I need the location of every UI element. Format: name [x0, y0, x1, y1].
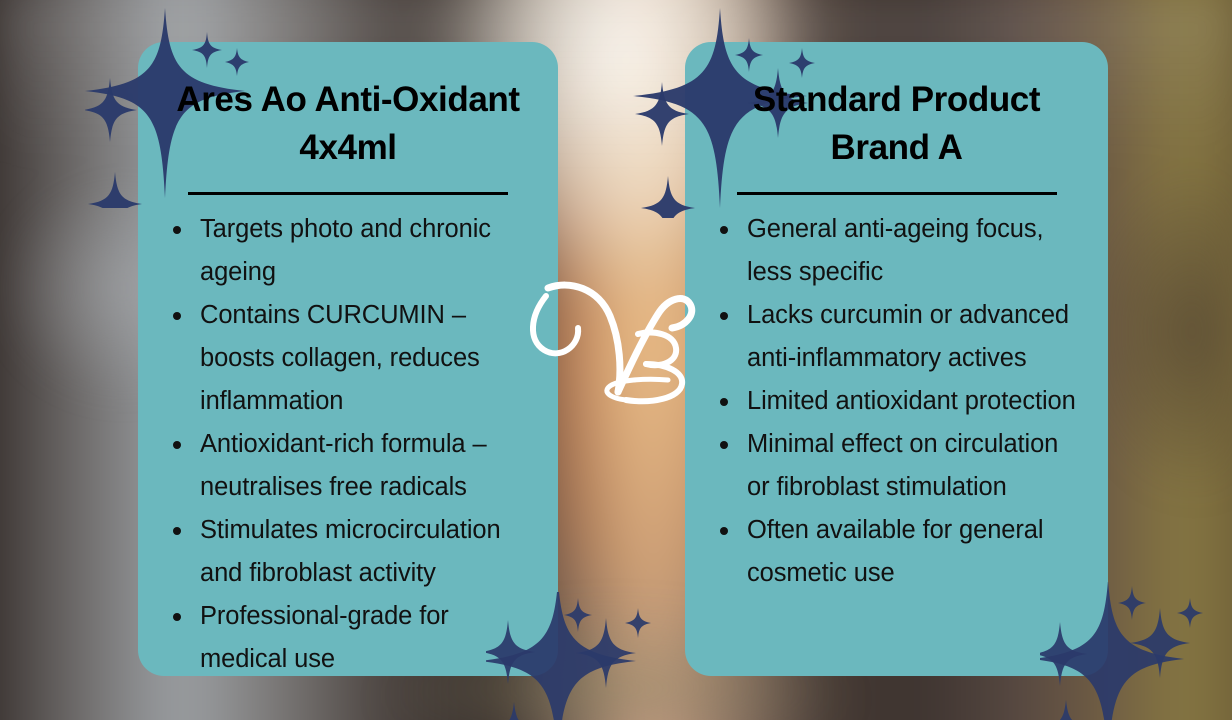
product-card-standard-brand-a: Standard Product Brand A General anti-ag… [685, 42, 1108, 676]
product-card-ares-ao: Ares Ao Anti-Oxidant 4x4ml Targets photo… [138, 42, 558, 676]
comparison-graphic: Ares Ao Anti-Oxidant 4x4ml Targets photo… [0, 0, 1232, 720]
title-divider [188, 192, 508, 195]
list-item: Lacks curcumin or advanced anti-inflamma… [715, 294, 1078, 380]
feature-list-ares-ao: Targets photo and chronic ageing Contain… [168, 208, 528, 681]
card-title-ares-ao: Ares Ao Anti-Oxidant 4x4ml [168, 76, 528, 172]
bullet-dot-icon [720, 312, 728, 320]
list-item: General anti-ageing focus, less specific [715, 208, 1078, 294]
list-item: Antioxidant-rich formula – neutralises f… [168, 423, 528, 509]
list-item-text: Targets photo and chronic ageing [200, 215, 491, 286]
list-item-text: Often available for general cosmetic use [747, 516, 1043, 587]
list-item: Limited antioxidant protection [715, 380, 1078, 423]
list-item-text: Minimal effect on circulation or fibrobl… [747, 430, 1058, 501]
list-item: Minimal effect on circulation or fibrobl… [715, 423, 1078, 509]
bullet-dot-icon [173, 226, 181, 234]
list-item: Contains CURCUMIN – boosts collagen, red… [168, 294, 528, 423]
list-item: Stimulates microcirculation and fibrobla… [168, 509, 528, 595]
list-item: Often available for general cosmetic use [715, 509, 1078, 595]
list-item-text: General anti-ageing focus, less specific [747, 215, 1044, 286]
bullet-dot-icon [173, 613, 181, 621]
card-title-standard-brand-a: Standard Product Brand A [715, 76, 1078, 172]
bullet-dot-icon [720, 441, 728, 449]
list-item-text: Contains CURCUMIN – boosts collagen, red… [200, 301, 480, 415]
list-item-text: Limited antioxidant protection [747, 387, 1076, 415]
bullet-dot-icon [720, 527, 728, 535]
list-item-text: Stimulates microcirculation and fibrobla… [200, 516, 501, 587]
title-divider [737, 192, 1057, 195]
list-item: Targets photo and chronic ageing [168, 208, 528, 294]
feature-list-standard-brand-a: General anti-ageing focus, less specific… [715, 208, 1078, 595]
list-item-text: Lacks curcumin or advanced anti-inflamma… [747, 301, 1069, 372]
bullet-dot-icon [720, 226, 728, 234]
bullet-dot-icon [173, 441, 181, 449]
list-item-text: Professional-grade for medical use [200, 602, 449, 673]
list-item-text: Antioxidant-rich formula – neutralises f… [200, 430, 487, 501]
list-item: Professional-grade for medical use [168, 595, 528, 681]
bullet-dot-icon [720, 398, 728, 406]
bullet-dot-icon [173, 527, 181, 535]
bullet-dot-icon [173, 312, 181, 320]
